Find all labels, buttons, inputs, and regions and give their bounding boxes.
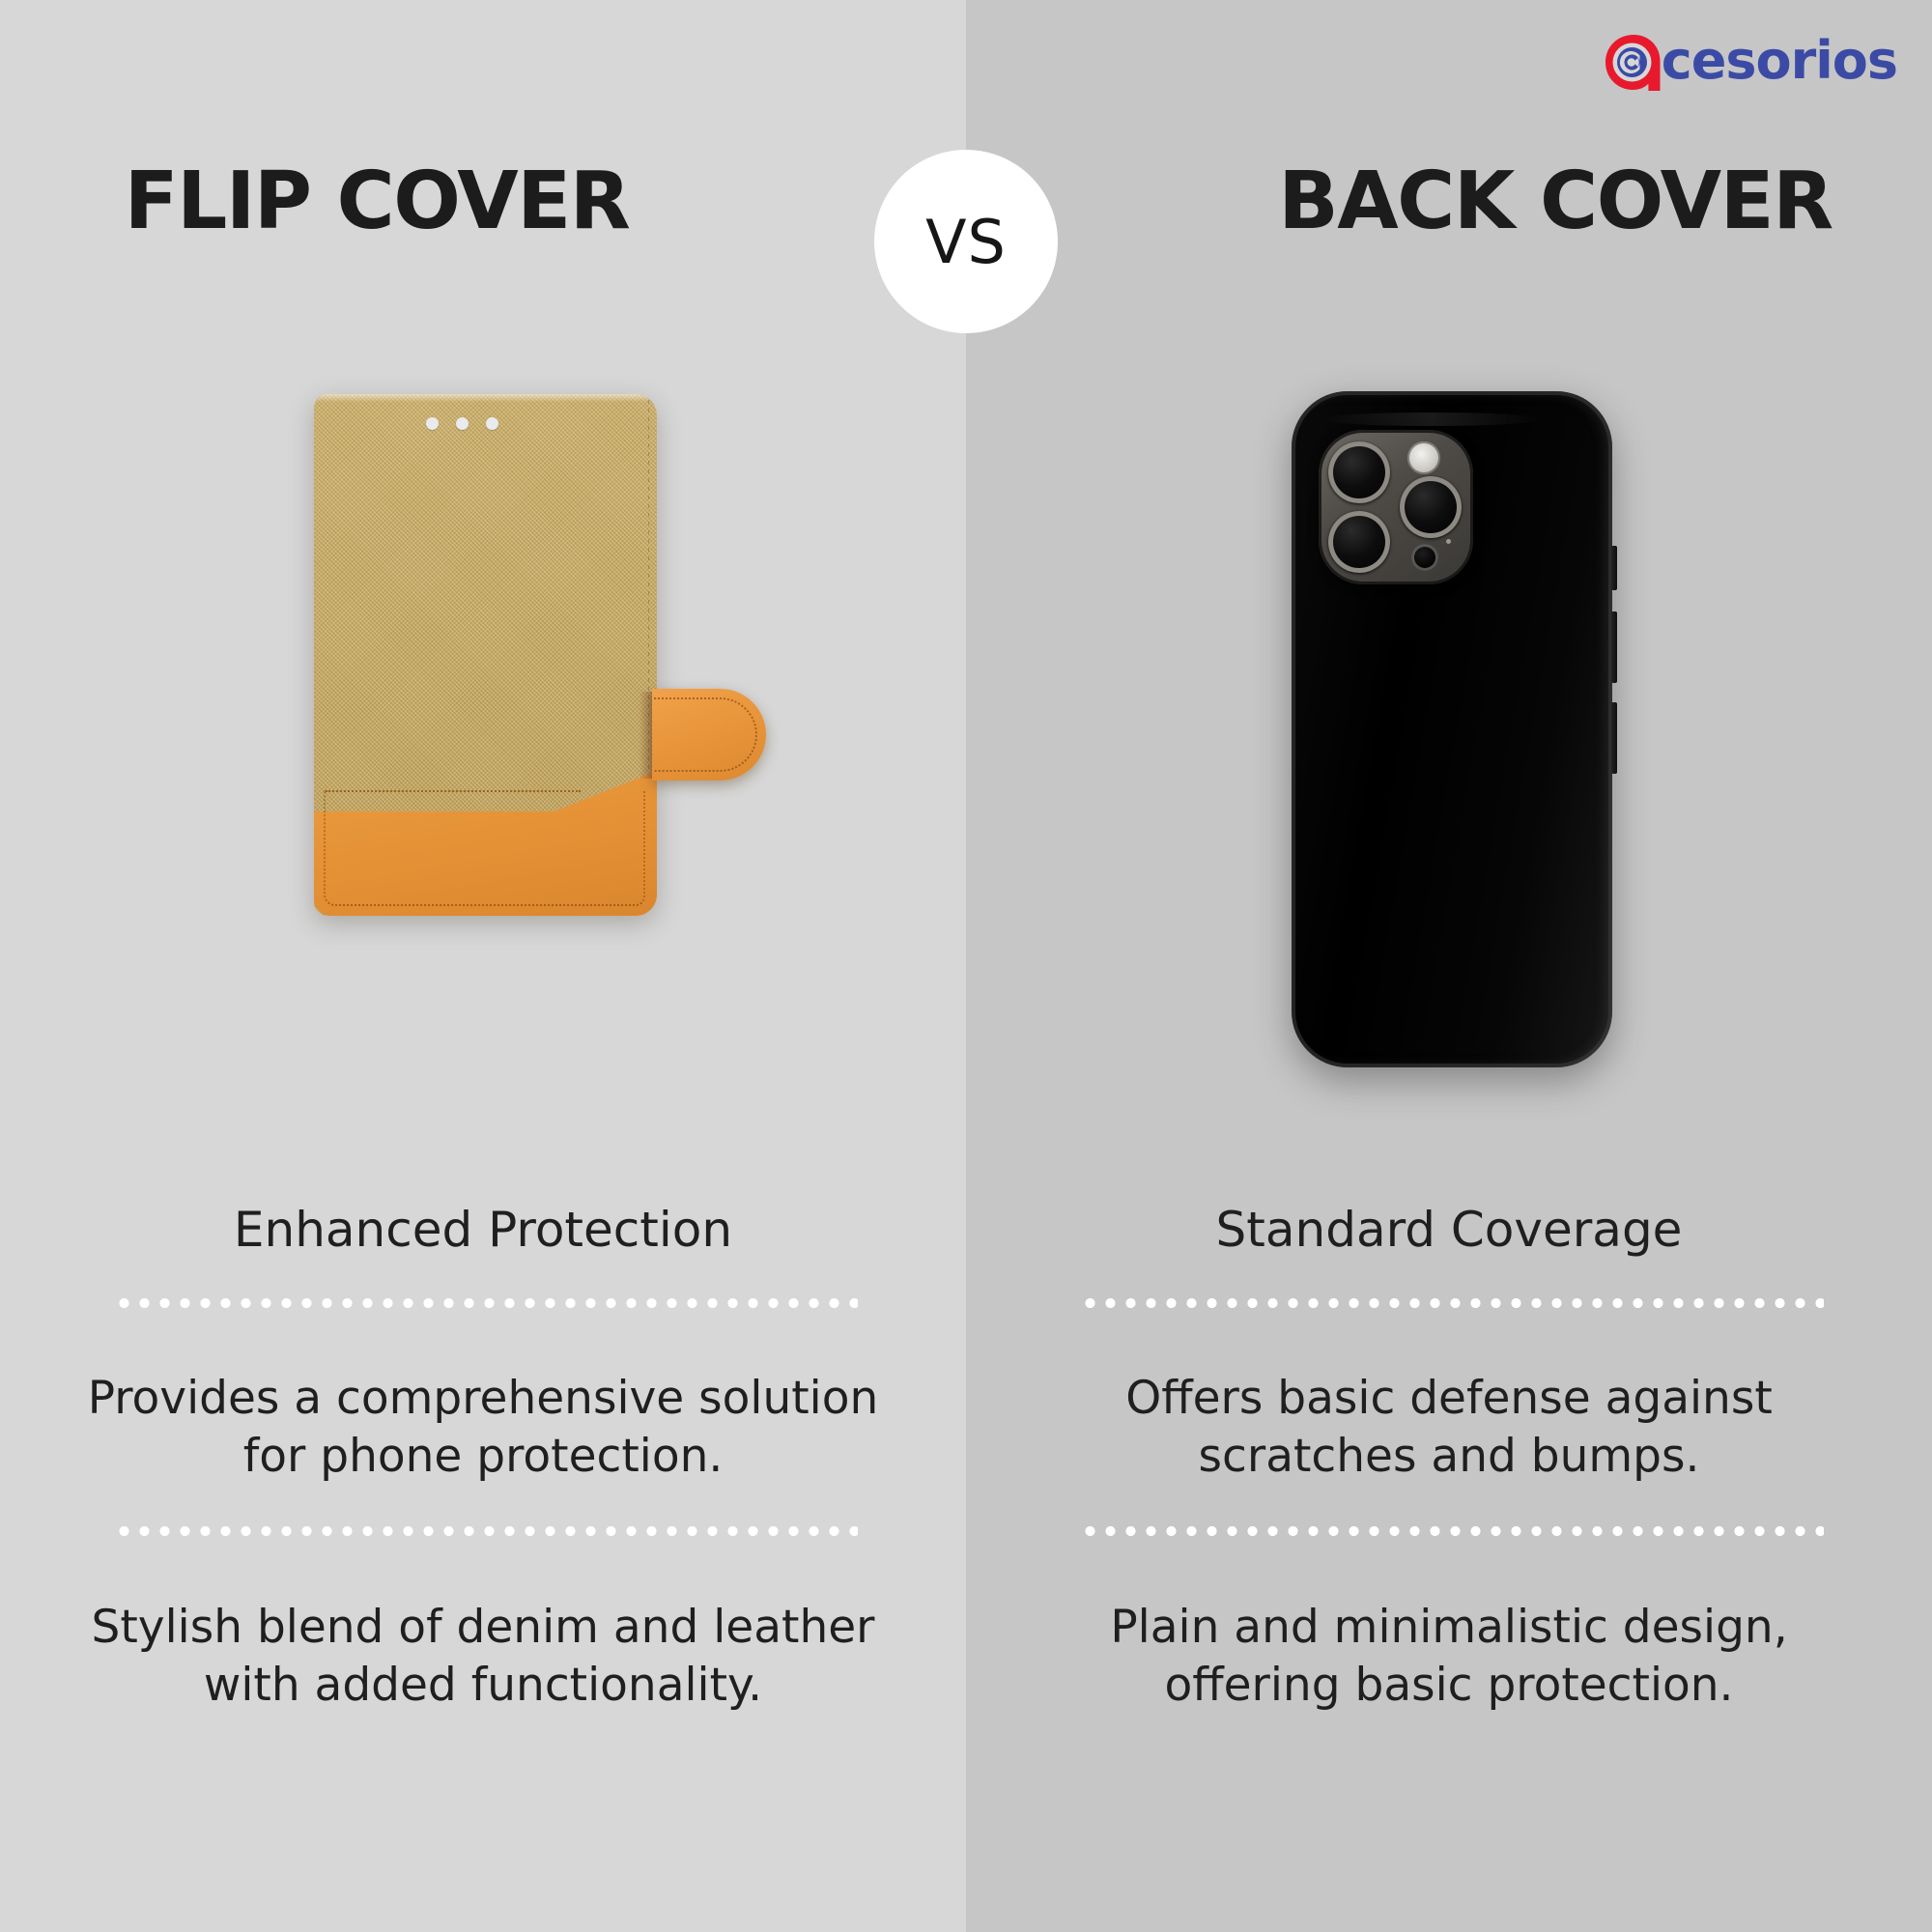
logo-a-mark-icon [1602, 31, 1665, 95]
camera-lens-icon [1400, 476, 1462, 538]
flip-cover-product-photo [314, 394, 657, 916]
flip-cover-top-edge [314, 394, 657, 402]
vs-badge: VS [874, 150, 1058, 333]
vs-label: VS [925, 207, 1007, 277]
camera-lens-icon [1328, 441, 1390, 503]
lidar-sensor-icon [1411, 544, 1438, 571]
flip-cover-camera-dots [426, 417, 498, 430]
flip-cover-dot [456, 417, 469, 430]
left-divider-2 [114, 1526, 858, 1536]
back-cover-highlight [1321, 412, 1543, 426]
camera-module-icon [1319, 430, 1473, 584]
left-feature-1: Provides a comprehensive solution for ph… [63, 1370, 903, 1486]
volume-down-cutout [1611, 702, 1617, 774]
flip-cover-clasp-stitching [654, 697, 757, 772]
comparison-infographic: cesorios FLIP COVER BACK COVER VS [0, 0, 1932, 1932]
right-divider-2 [1080, 1526, 1824, 1536]
back-cover-product-photo [1292, 391, 1612, 1067]
logo-wordmark: cesorios [1662, 35, 1897, 91]
right-subtitle: Standard Coverage [1029, 1203, 1869, 1259]
mute-switch-cutout [1611, 546, 1617, 590]
flip-cover-dot [486, 417, 498, 430]
right-feature-2: Plain and minimalistic design, offering … [1029, 1599, 1869, 1715]
brand-logo[interactable]: cesorios [1602, 27, 1897, 99]
right-title: BACK COVER [1179, 162, 1932, 241]
flip-cover-magnetic-clasp [652, 689, 766, 781]
left-title: FLIP COVER [0, 162, 753, 241]
left-divider-1 [114, 1298, 858, 1308]
microphone-icon [1446, 539, 1451, 544]
flip-cover-leather-stitching [324, 790, 645, 906]
right-divider-1 [1080, 1298, 1824, 1308]
right-feature-1: Offers basic defense against scratches a… [1029, 1370, 1869, 1486]
left-subtitle: Enhanced Protection [63, 1203, 903, 1259]
flip-cover-dot [426, 417, 439, 430]
left-feature-2: Stylish blend of denim and leather with … [63, 1599, 903, 1715]
volume-up-cutout [1611, 611, 1617, 683]
camera-lens-icon [1328, 511, 1390, 573]
camera-flash-icon [1407, 441, 1440, 474]
